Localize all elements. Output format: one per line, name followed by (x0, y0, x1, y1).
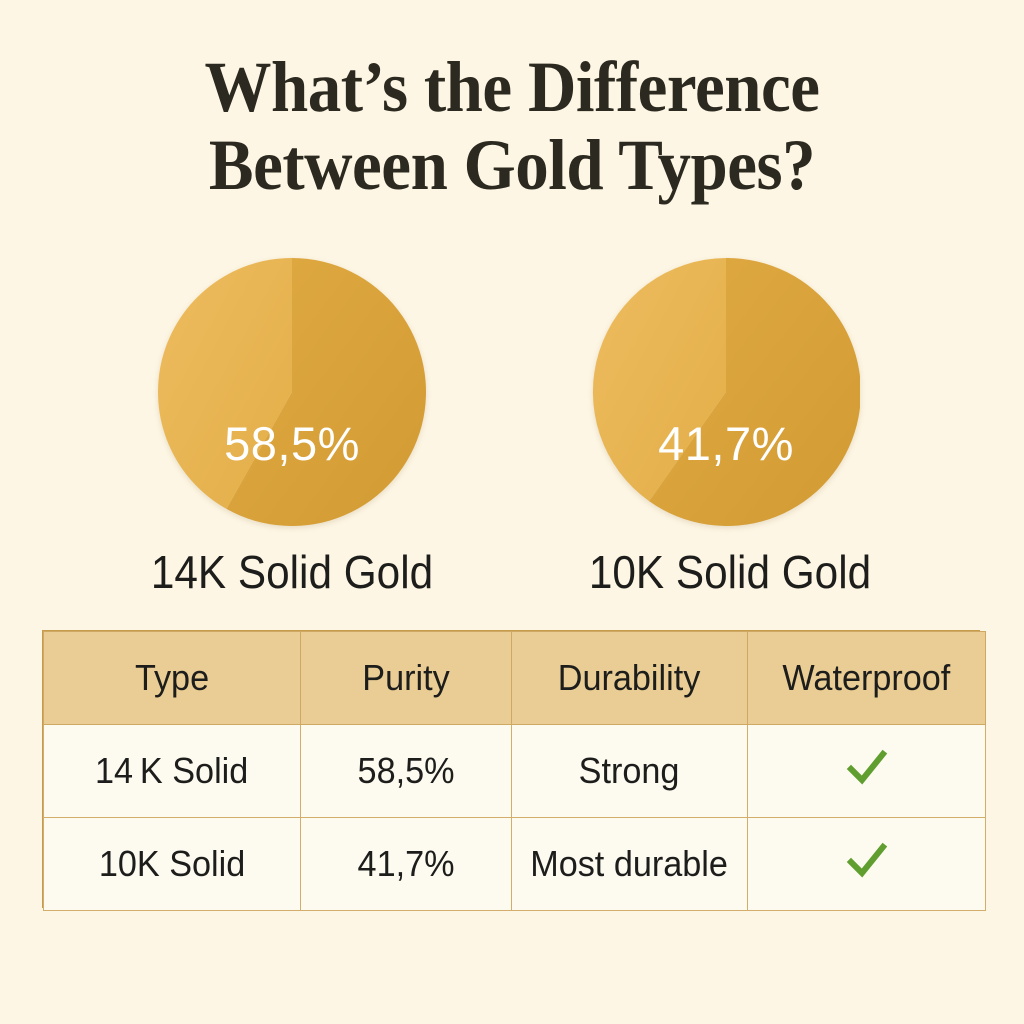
column-header-purity-label: Purity (362, 657, 449, 699)
cell-type-14k: 14 K Solid (44, 725, 301, 818)
title-line-2: Between Gold Types? (36, 126, 988, 204)
gold-types-infographic: What’s the Difference Between Gold Types… (0, 0, 1024, 1024)
column-header-type: Type (44, 632, 301, 725)
cell-purity-10k-label: 41,7% (358, 843, 455, 885)
cell-purity-10k: 41,7% (301, 818, 512, 911)
check-icon (845, 745, 889, 789)
cell-waterproof-10k (748, 818, 986, 911)
table-row: 14 K Solid 58,5% Strong (44, 725, 986, 818)
column-header-purity: Purity (301, 632, 512, 725)
column-header-waterproof: Waterproof (748, 632, 986, 725)
column-header-durability-label: Durability (558, 657, 701, 699)
cell-purity-14k: 58,5% (301, 725, 512, 818)
check-icon (845, 838, 889, 882)
table-header-row: Type Purity Durability Waterproof (44, 632, 986, 725)
cell-durability-10k-label: Most durable (531, 843, 729, 885)
table-row: 10K Solid 41,7% Most durable (44, 818, 986, 911)
comparison-table: Type Purity Durability Waterproof 14 K S… (42, 630, 980, 908)
pie-chart-14k: 58,5% (158, 258, 426, 526)
cell-type-10k-label: 10K Solid (99, 843, 245, 885)
pie-caption-10k: 10K Solid Gold (537, 545, 923, 599)
pie-chart-10k: 41,7% (592, 258, 860, 526)
cell-durability-14k-label: Strong (579, 750, 680, 792)
column-header-waterproof-label: Waterproof (783, 657, 951, 699)
title-line-1: What’s the Difference (36, 48, 988, 126)
cell-waterproof-14k (748, 725, 986, 818)
cell-durability-10k: Most durable (512, 818, 748, 911)
pie-captions: 14K Solid Gold 10K Solid Gold (0, 545, 1024, 603)
pie-chart-10k-svg (592, 258, 860, 526)
pie-chart-group: 58,5% 41,7% (0, 258, 1024, 538)
cell-type-14k-label: 14 K Solid (95, 750, 248, 792)
column-header-type-label: Type (135, 657, 209, 699)
page-title: What’s the Difference Between Gold Types… (0, 48, 1024, 204)
pie-caption-14k: 14K Solid Gold (99, 545, 485, 599)
pie-chart-14k-svg (158, 258, 426, 526)
cell-type-10k: 10K Solid (44, 818, 301, 911)
cell-purity-14k-label: 58,5% (358, 750, 455, 792)
column-header-durability: Durability (512, 632, 748, 725)
cell-durability-14k: Strong (512, 725, 748, 818)
